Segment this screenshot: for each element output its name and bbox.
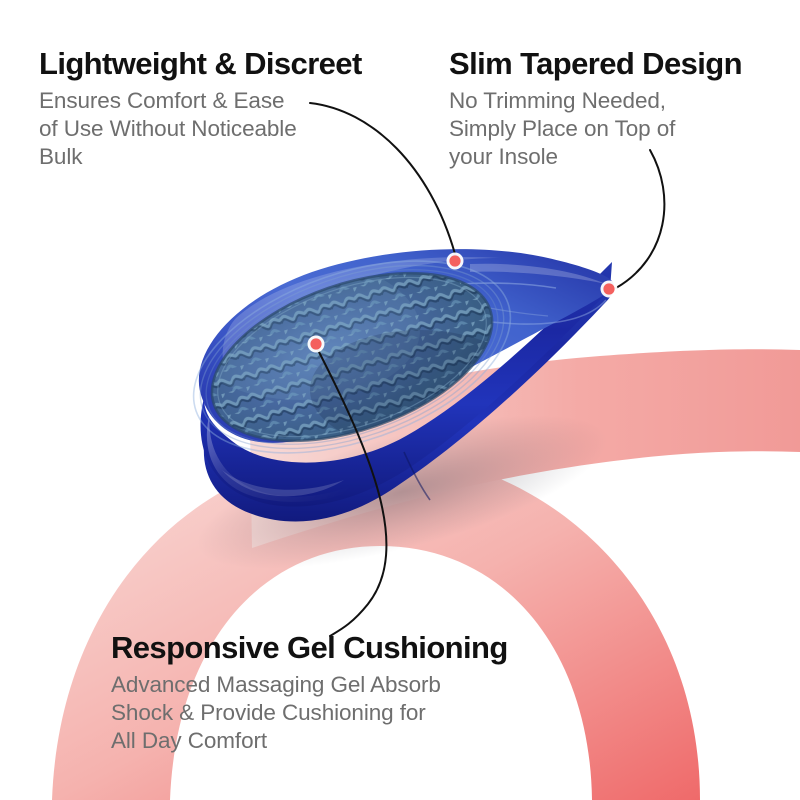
- feature-body-slim: No Trimming Needed, Simply Place on Top …: [449, 87, 742, 171]
- feature-heading-gel: Responsive Gel Cushioning: [111, 631, 508, 665]
- feature-body-line: Shock & Provide Cushioning for: [111, 699, 508, 727]
- callout-dot-slim[interactable]: [601, 281, 618, 298]
- callout-dot-lightweight[interactable]: [447, 253, 464, 270]
- infographic-canvas: Lightweight & Discreet Ensures Comfort &…: [0, 0, 800, 800]
- feature-block-slim: Slim Tapered Design No Trimming Needed, …: [449, 47, 742, 171]
- feature-body-lightweight: Ensures Comfort & Ease of Use Without No…: [39, 87, 362, 171]
- feature-heading-slim: Slim Tapered Design: [449, 47, 742, 81]
- feature-block-lightweight: Lightweight & Discreet Ensures Comfort &…: [39, 47, 362, 171]
- feature-body-line: Bulk: [39, 143, 362, 171]
- feature-body-line: of Use Without Noticeable: [39, 115, 362, 143]
- leader-line-gel: [318, 350, 386, 636]
- feature-body-line: Advanced Massaging Gel Absorb: [111, 671, 508, 699]
- feature-body-line: Ensures Comfort & Ease: [39, 87, 362, 115]
- feature-block-gel: Responsive Gel Cushioning Advanced Massa…: [111, 631, 508, 755]
- feature-body-line: Simply Place on Top of: [449, 115, 742, 143]
- feature-body-gel: Advanced Massaging Gel Absorb Shock & Pr…: [111, 671, 508, 755]
- feature-heading-lightweight: Lightweight & Discreet: [39, 47, 362, 81]
- feature-body-line: your Insole: [449, 143, 742, 171]
- feature-body-line: No Trimming Needed,: [449, 87, 742, 115]
- callout-dot-gel[interactable]: [308, 336, 325, 353]
- feature-body-line: All Day Comfort: [111, 727, 508, 755]
